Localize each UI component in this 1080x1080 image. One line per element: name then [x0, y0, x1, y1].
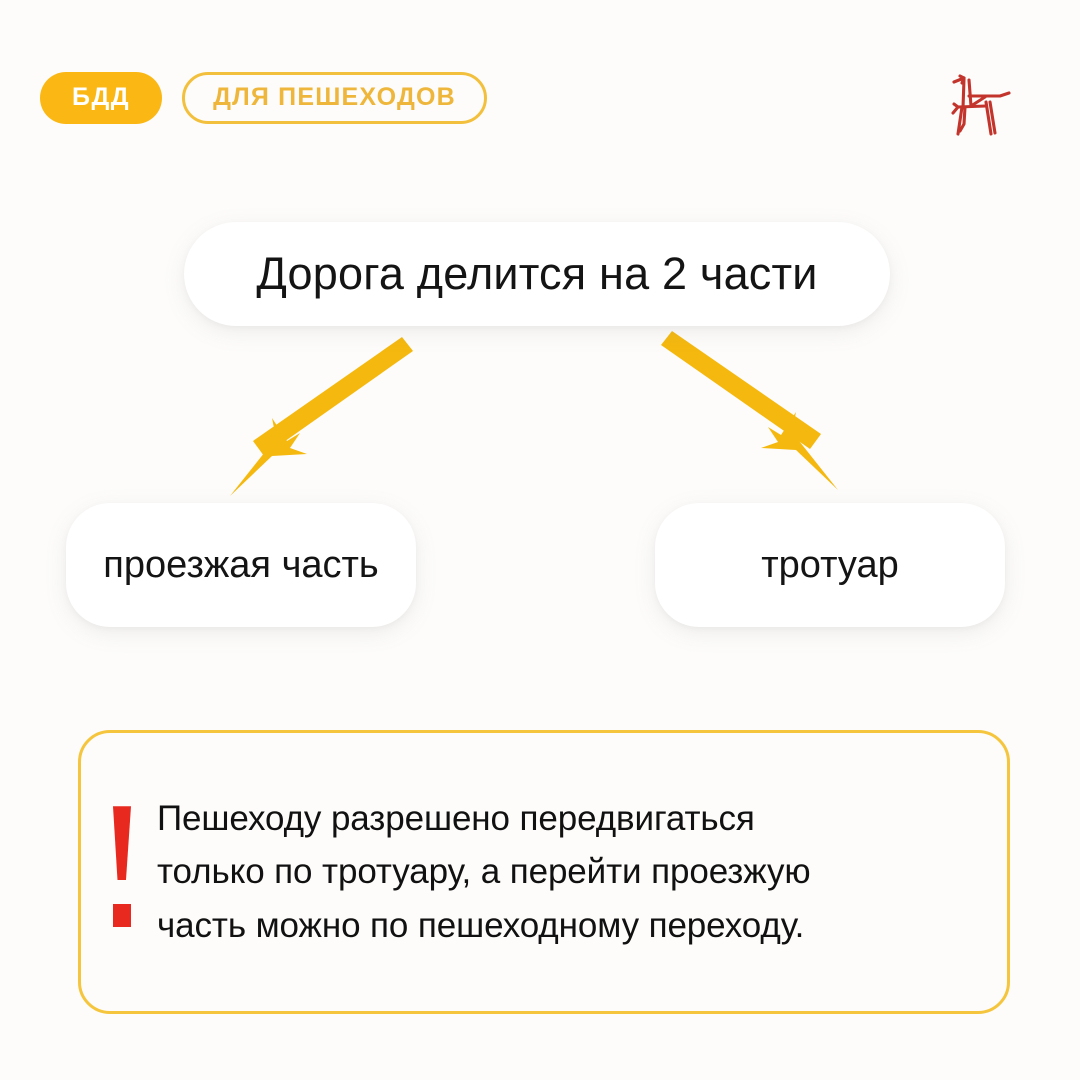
badge-bdd[interactable]: БДД [40, 72, 162, 124]
badge-for-pedestrians[interactable]: ДЛЯ ПЕШЕХОДОВ [182, 72, 487, 124]
exclamation-dot [113, 904, 131, 927]
arrow-down-right [661, 331, 838, 490]
branch-label-roadway-line2: часть [282, 544, 379, 586]
branch-label-roadway: проезжая часть [103, 541, 378, 590]
exclamation-mark-icon [111, 806, 133, 927]
diagram-title-card: Дорога делится на 2 части [184, 222, 890, 326]
arrow-down-left [230, 337, 413, 496]
branch-card-roadway[interactable]: проезжая часть [66, 503, 416, 627]
page-title: Дорога делится на 2 части [256, 248, 817, 300]
branch-label-sidewalk: тротуар [761, 541, 899, 590]
note-text: Пешеходу разрешено передвигаться только … [157, 792, 811, 952]
branch-label-roadway-line1: проезжая [103, 544, 271, 586]
note-box: Пешеходу разрешено передвигаться только … [78, 730, 1010, 1014]
horse-logo [940, 64, 1018, 142]
branch-card-sidewalk[interactable]: тротуар [655, 503, 1005, 627]
header: БДД ДЛЯ ПЕШЕХОДОВ [40, 70, 1040, 126]
note-line-3: часть можно по пешеходному переходу. [157, 899, 811, 952]
note-inner: Пешеходу разрешено передвигаться только … [81, 792, 1007, 952]
exclamation-stroke [113, 806, 131, 880]
note-line-1: Пешеходу разрешено передвигаться [157, 792, 811, 845]
note-line-2: только по тротуару, а перейти проезжую [157, 845, 811, 898]
slide-root: БДД ДЛЯ ПЕШЕХОДОВ [0, 0, 1080, 1080]
